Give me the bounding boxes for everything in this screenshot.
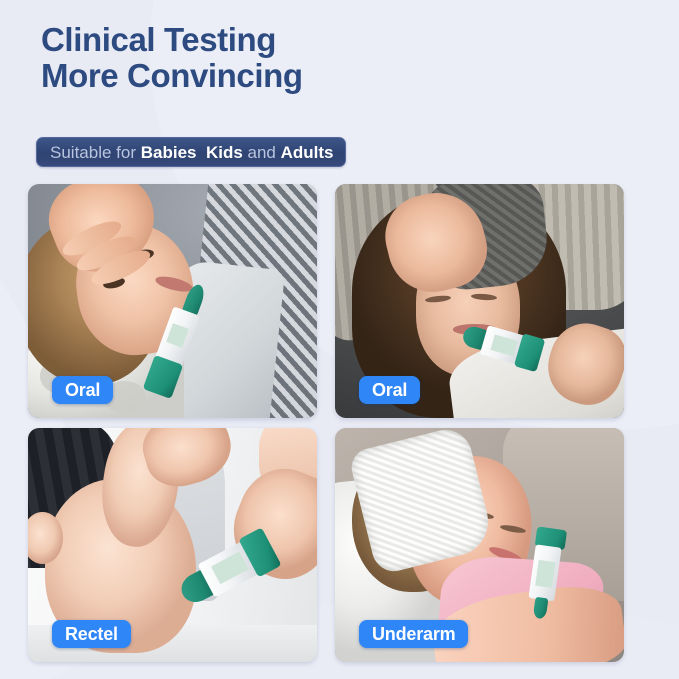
badge-item-adults: Adults [281, 144, 334, 161]
badge-prefix: Suitable for [50, 144, 141, 161]
badge-conjunction: and [243, 144, 281, 161]
label-pill-rectal-baby: Rectel [52, 620, 131, 648]
label-pill-oral-child: Oral [52, 376, 113, 404]
title-line-1: Clinical Testing [41, 22, 641, 58]
pill-label-text: Underarm [372, 625, 455, 643]
label-pill-oral-adult: Oral [359, 376, 420, 404]
photo-card-oral-child[interactable]: Oral [28, 184, 317, 418]
badge-separator [196, 144, 205, 161]
pill-label-text: Oral [372, 381, 407, 399]
photo-card-underarm-child[interactable]: Underarm [335, 428, 624, 662]
pill-label-text: Rectel [65, 625, 118, 643]
badge-item-kids: Kids [206, 144, 243, 161]
photo-card-oral-adult[interactable]: Oral [335, 184, 624, 418]
photo-card-rectal-baby[interactable]: Rectel [28, 428, 317, 662]
title-line-2: More Convincing [41, 58, 641, 94]
page-title: Clinical Testing More Convincing [41, 22, 641, 94]
label-pill-underarm-child: Underarm [359, 620, 468, 648]
pill-label-text: Oral [65, 381, 100, 399]
photo-grid: Oral [28, 184, 624, 662]
product-infographic-page: Clinical Testing More Convincing Suitabl… [0, 0, 679, 679]
badge-item-babies: Babies [141, 144, 197, 161]
suitable-for-badge: Suitable for Babies Kids and Adults [36, 137, 346, 167]
